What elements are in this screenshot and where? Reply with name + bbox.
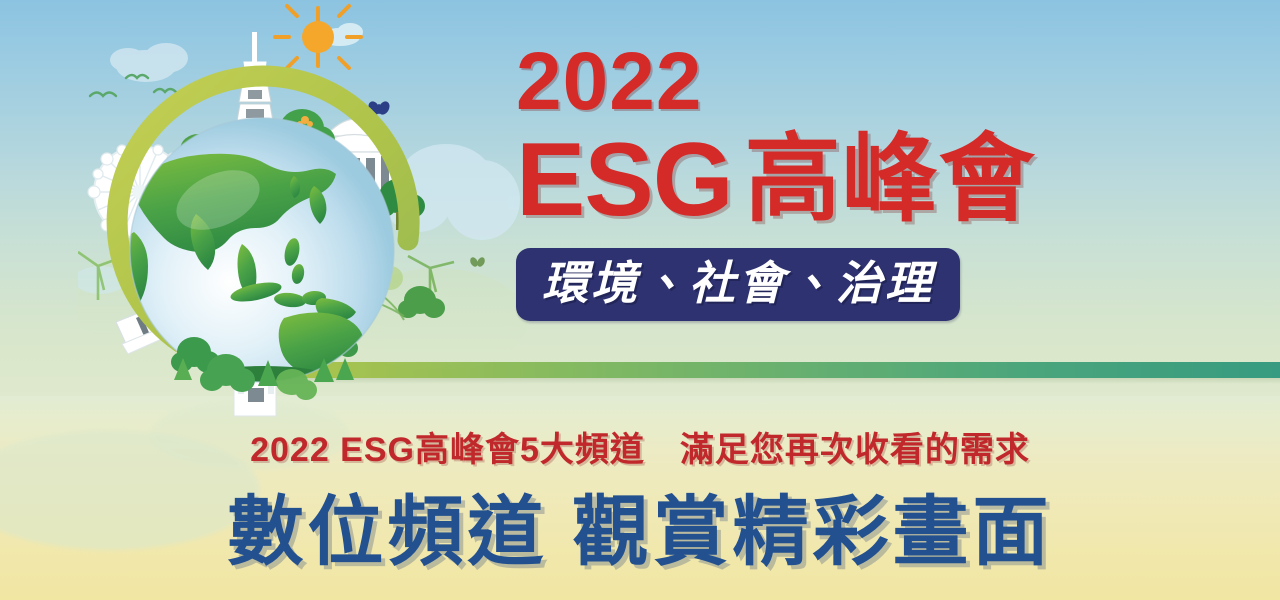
hero-year: 2022 [516,40,1116,124]
hero-title-cjk: 高峰會 [733,126,1036,233]
butterfly-icon-small [469,256,487,268]
promo-heading: 數位頻道 觀賞精彩畫面 [0,487,1280,579]
eco-globe-illustration [78,0,538,420]
hero-title-latin: ESG [516,122,733,238]
hero-pill-badge: 環境、社會、治理 [516,248,960,321]
cloud-icon [110,43,188,82]
esg-summit-banner: 2022 ESG高峰會 環境、社會、治理 2022 ESG高峰會5大頻道 滿足您… [0,0,1280,600]
promo-subheading: 2022 ESG高峰會5大頻道 滿足您再次收看的需求 [0,430,1280,470]
hero-pill-label: 環境、社會、治理 [542,257,934,309]
hero-headline: 2022 ESG高峰會 環境、社會、治理 [516,40,1116,321]
sun-icon [275,6,361,68]
hero-title: ESG高峰會 [516,128,1116,232]
